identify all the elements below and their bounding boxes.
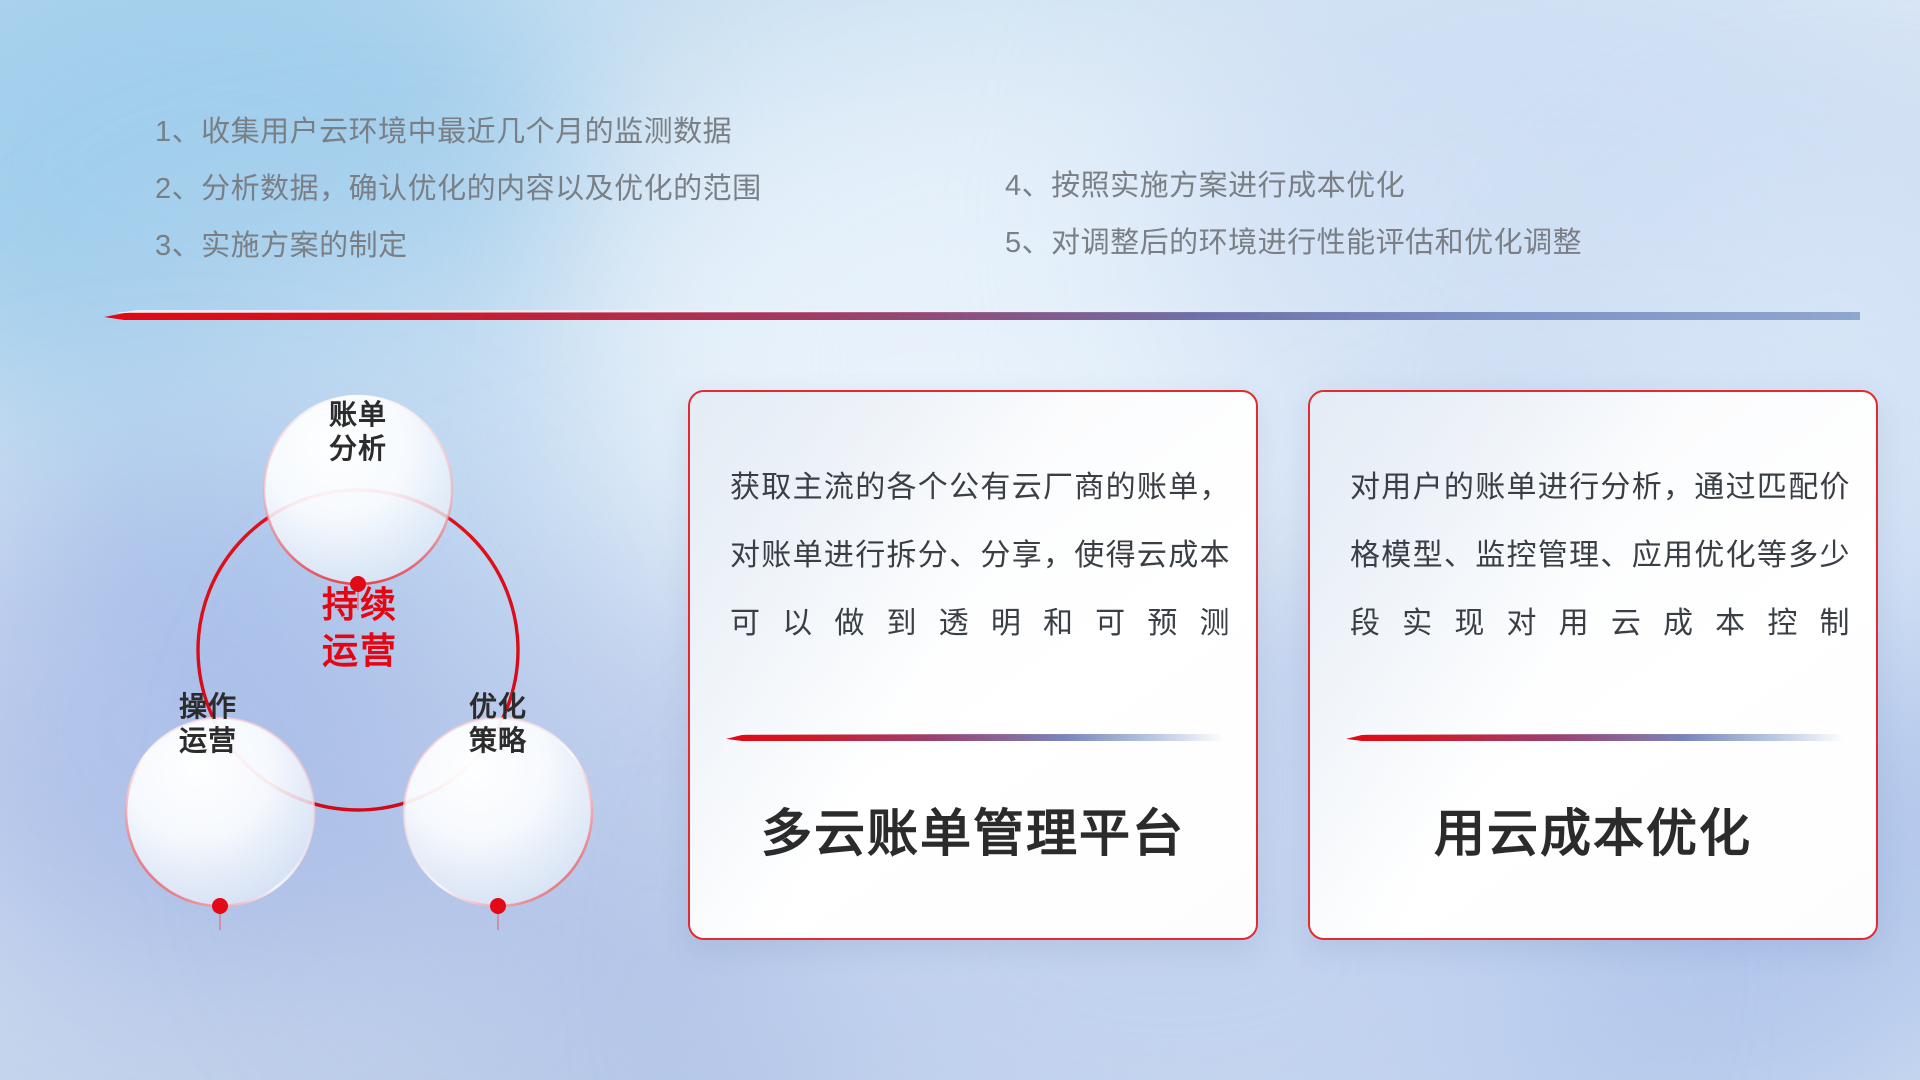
card-multi-cloud-billing-platform[interactable]: 获取主流的各个公有云厂商的账单，对账单进行拆分、分享，使得云成本可以做到透明和可…: [688, 390, 1258, 940]
card-divider-highlight: [1356, 732, 1844, 735]
section-divider-bar: [104, 312, 1860, 320]
card-divider-bar: [1346, 734, 1844, 741]
card-body-text: 对用户的账单进行分析，通过匹配价格模型、监控管理、应用优化等多少段实现对用云成本…: [1350, 454, 1850, 658]
venn-label-billing-analysis: 账单 分析: [278, 398, 438, 466]
process-steps-list: 1、收集用户云环境中最近几个月的监测数据 2、分析数据，确认优化的内容以及优化的…: [0, 104, 1920, 284]
card-body-text: 获取主流的各个公有云厂商的账单，对账单进行拆分、分享，使得云成本可以做到透明和可…: [730, 454, 1230, 658]
process-step-1: 1、收集用户云环境中最近几个月的监测数据: [155, 104, 762, 161]
venn-dot-bottom-right: [490, 898, 506, 914]
venn-dot-bottom-left: [212, 898, 228, 914]
process-step-5: 5、对调整后的环境进行性能评估和优化调整: [1005, 215, 1582, 272]
process-steps-right-column: 4、按照实施方案进行成本优化 5、对调整后的环境进行性能评估和优化调整: [1005, 158, 1582, 272]
card-cloud-cost-optimization[interactable]: 对用户的账单进行分析，通过匹配价格模型、监控管理、应用优化等多少段实现对用云成本…: [1308, 390, 1878, 940]
venn-label-center: 持续 运营: [270, 582, 450, 674]
card-divider-highlight: [736, 732, 1224, 735]
card-divider: [726, 732, 1224, 741]
card-title: 多云账单管理平台: [690, 792, 1256, 866]
venn-diagram: 账单 分析 操作 运营 优化 策略 持续 运营: [100, 352, 620, 952]
card-title: 用云成本优化: [1310, 792, 1876, 866]
section-divider: [104, 310, 1860, 321]
section-divider-highlight: [116, 310, 1854, 313]
venn-label-optimization: 优化 策略: [418, 690, 578, 758]
venn-label-operations: 操作 运营: [128, 690, 288, 758]
process-step-2: 2、分析数据，确认优化的内容以及优化的范围: [155, 161, 762, 218]
process-steps-left-column: 1、收集用户云环境中最近几个月的监测数据 2、分析数据，确认优化的内容以及优化的…: [155, 104, 762, 275]
card-divider: [1346, 732, 1844, 741]
process-step-4: 4、按照实施方案进行成本优化: [1005, 158, 1582, 215]
process-step-3: 3、实施方案的制定: [155, 218, 762, 275]
card-divider-bar: [726, 734, 1224, 741]
